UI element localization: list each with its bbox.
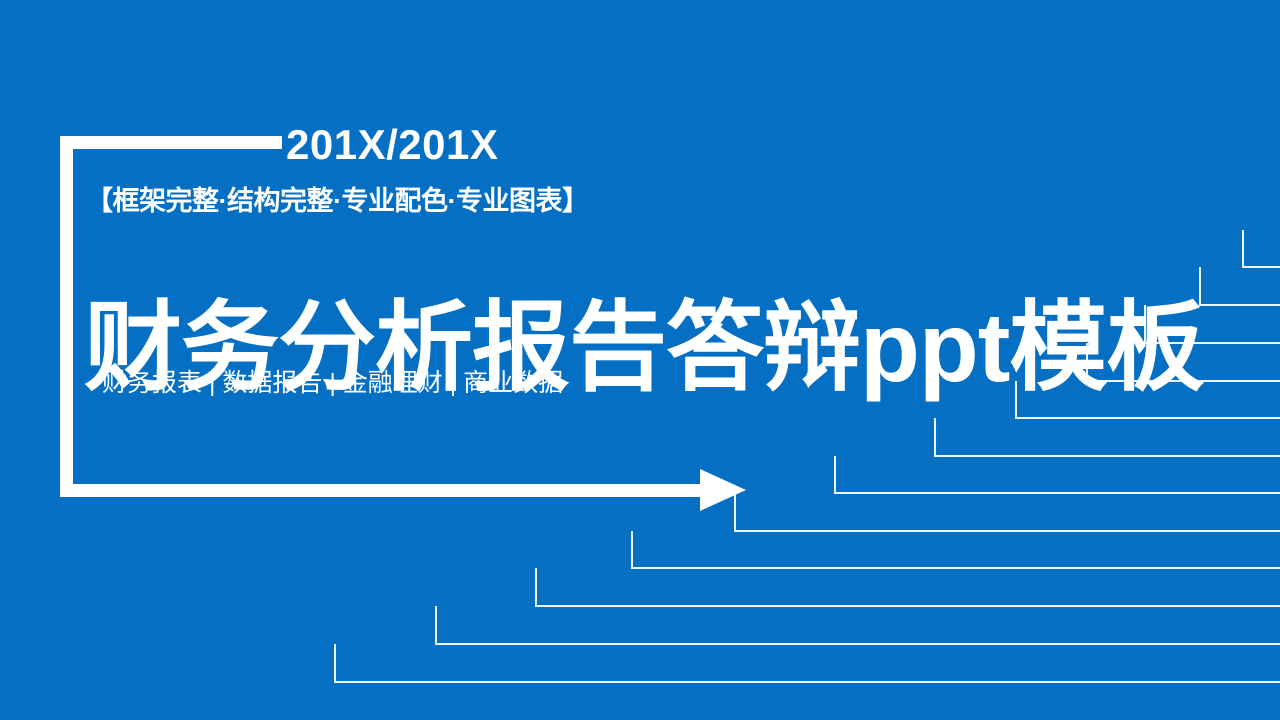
category-tagline: 财务报表 | 数据报告 | 金融理财 | 商业数据	[102, 368, 563, 398]
stair-step-1	[632, 531, 1280, 568]
stair-step-8	[1200, 267, 1280, 305]
stair-step-4	[935, 418, 1280, 456]
stair-step-base-1	[335, 644, 1280, 682]
stair-step-0	[536, 568, 1280, 606]
stair-step-9	[1243, 230, 1280, 267]
year-range-label: 201X/201X	[286, 124, 498, 166]
feature-kicker-label: 【框架完整·结构完整·专业配色·专业图表】	[86, 186, 588, 217]
stair-step-2	[735, 493, 1280, 531]
stair-step-base-2	[436, 606, 1280, 644]
right-arrow-icon	[700, 469, 746, 511]
arrow-shaft	[60, 484, 706, 497]
stair-step-3	[835, 456, 1280, 493]
presentation-cover-slide: 201X/201X 【框架完整·结构完整·专业配色·专业图表】 财务分析报告答辩…	[0, 0, 1280, 720]
frame-top-bar	[60, 136, 282, 149]
frame-left-bar	[60, 136, 73, 497]
